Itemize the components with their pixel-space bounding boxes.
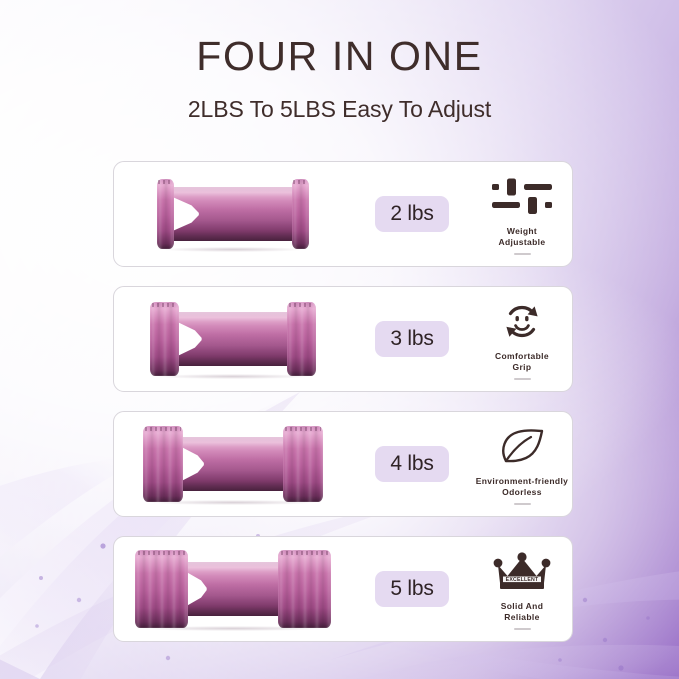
page-subtitle: 2LBS To 5LBS Easy To Adjust [0, 77, 679, 121]
label-underline [514, 503, 531, 505]
sliders-icon [491, 177, 553, 217]
weight-badge-cell: 2 lbs [352, 196, 472, 232]
weight-badge-cell: 5 lbs [352, 571, 472, 607]
dumbbell-illustration [114, 162, 352, 266]
label-underline [514, 628, 531, 630]
feature-card[interactable]: 5 lbs EXCELLENT Solid And Reliable [113, 536, 573, 642]
feature-label: Weight Adjustable [499, 226, 546, 249]
leaf-icon [498, 427, 546, 467]
weight-badge: 3 lbs [375, 321, 448, 357]
feature-label: Environment-friendly Odorless [476, 476, 568, 499]
feature-label: Comfortable Grip [495, 351, 549, 374]
weight-badge-cell: 4 lbs [352, 446, 472, 482]
feature-icon-cell: Comfortable Grip [472, 287, 572, 391]
infographic-stage: FOUR IN ONE 2LBS To 5LBS Easy To Adjust … [0, 0, 679, 679]
dumbbell-illustration [114, 537, 352, 641]
weight-badge: 4 lbs [375, 446, 448, 482]
label-underline [514, 378, 531, 380]
feature-card[interactable]: 4 lbs Environment-friendly Odorless [113, 411, 573, 517]
weight-badge: 5 lbs [375, 571, 448, 607]
feature-card-list: 2 lbs Weight Adjustable [113, 161, 573, 661]
page-title: FOUR IN ONE [0, 0, 679, 77]
feature-icon-cell: Environment-friendly Odorless [472, 412, 572, 516]
feature-card[interactable]: 3 lbs Comfortable Gr [113, 286, 573, 392]
feature-icon-cell: EXCELLENT Solid And Reliable [472, 537, 572, 641]
feature-label: Solid And Reliable [501, 601, 544, 624]
feature-card[interactable]: 2 lbs Weight Adjustable [113, 161, 573, 267]
smiley-arrows-icon [501, 302, 543, 342]
header: FOUR IN ONE 2LBS To 5LBS Easy To Adjust [0, 0, 679, 121]
crown-icon: EXCELLENT [493, 552, 551, 592]
feature-icon-cell: Weight Adjustable [472, 162, 572, 266]
dumbbell-illustration [114, 412, 352, 516]
label-underline [514, 253, 531, 255]
weight-badge: 2 lbs [375, 196, 448, 232]
dumbbell-illustration [114, 287, 352, 391]
crown-excellent-text: EXCELLENT [506, 576, 539, 582]
weight-badge-cell: 3 lbs [352, 321, 472, 357]
